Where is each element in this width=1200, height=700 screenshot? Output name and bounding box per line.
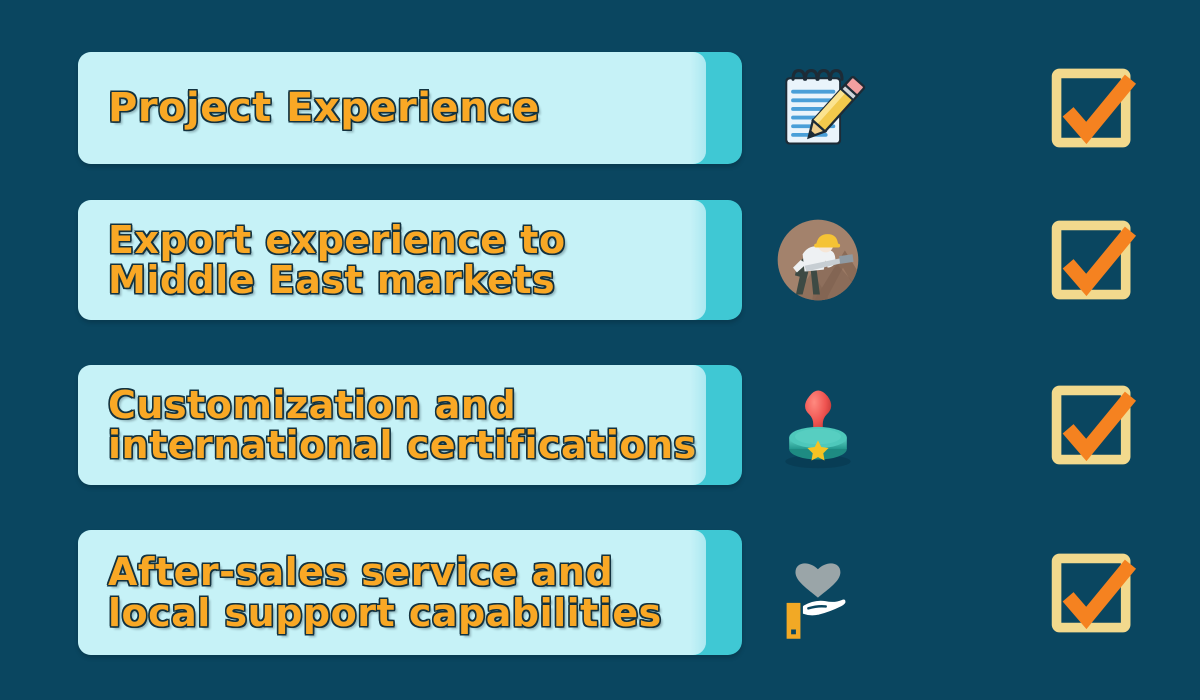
checked-checkbox-icon[interactable] bbox=[1046, 212, 1142, 308]
hand-holding-heart-icon bbox=[770, 545, 866, 641]
checklist-board: Project Experience bbox=[0, 0, 1200, 700]
row-checkbox[interactable] bbox=[1046, 60, 1142, 156]
card-text-line: Customization and bbox=[108, 385, 692, 425]
card-text-line: Export experience to bbox=[108, 220, 692, 260]
rubber-stamp-icon bbox=[770, 377, 866, 473]
card-text-line: international certifications bbox=[108, 425, 692, 465]
card-text-line: Project Experience bbox=[108, 87, 692, 129]
hand-holding-heart-icon bbox=[770, 545, 866, 641]
card-text-line: local support capabilities bbox=[108, 593, 692, 633]
card-body: Export experience toMiddle East markets bbox=[78, 200, 706, 320]
checked-checkbox-icon[interactable] bbox=[1046, 545, 1142, 641]
rubber-stamp-icon bbox=[770, 377, 866, 473]
card-body: Customization andinternational certifica… bbox=[78, 365, 706, 485]
construction-worker-badge-icon bbox=[770, 212, 866, 308]
checked-checkbox-icon[interactable] bbox=[1046, 60, 1142, 156]
memo-notepad-pencil-icon bbox=[770, 60, 866, 156]
row-checkbox[interactable] bbox=[1046, 545, 1142, 641]
card-body: Project Experience bbox=[78, 52, 706, 164]
card-text-line: Middle East markets bbox=[108, 260, 692, 300]
row-checkbox[interactable] bbox=[1046, 377, 1142, 473]
card-text-line: After-sales service and bbox=[108, 552, 692, 592]
construction-worker-badge-icon bbox=[770, 212, 866, 308]
card-body: After-sales service andlocal support cap… bbox=[78, 530, 706, 655]
row-checkbox[interactable] bbox=[1046, 212, 1142, 308]
checked-checkbox-icon[interactable] bbox=[1046, 377, 1142, 473]
memo-notepad-pencil-icon bbox=[770, 60, 866, 156]
